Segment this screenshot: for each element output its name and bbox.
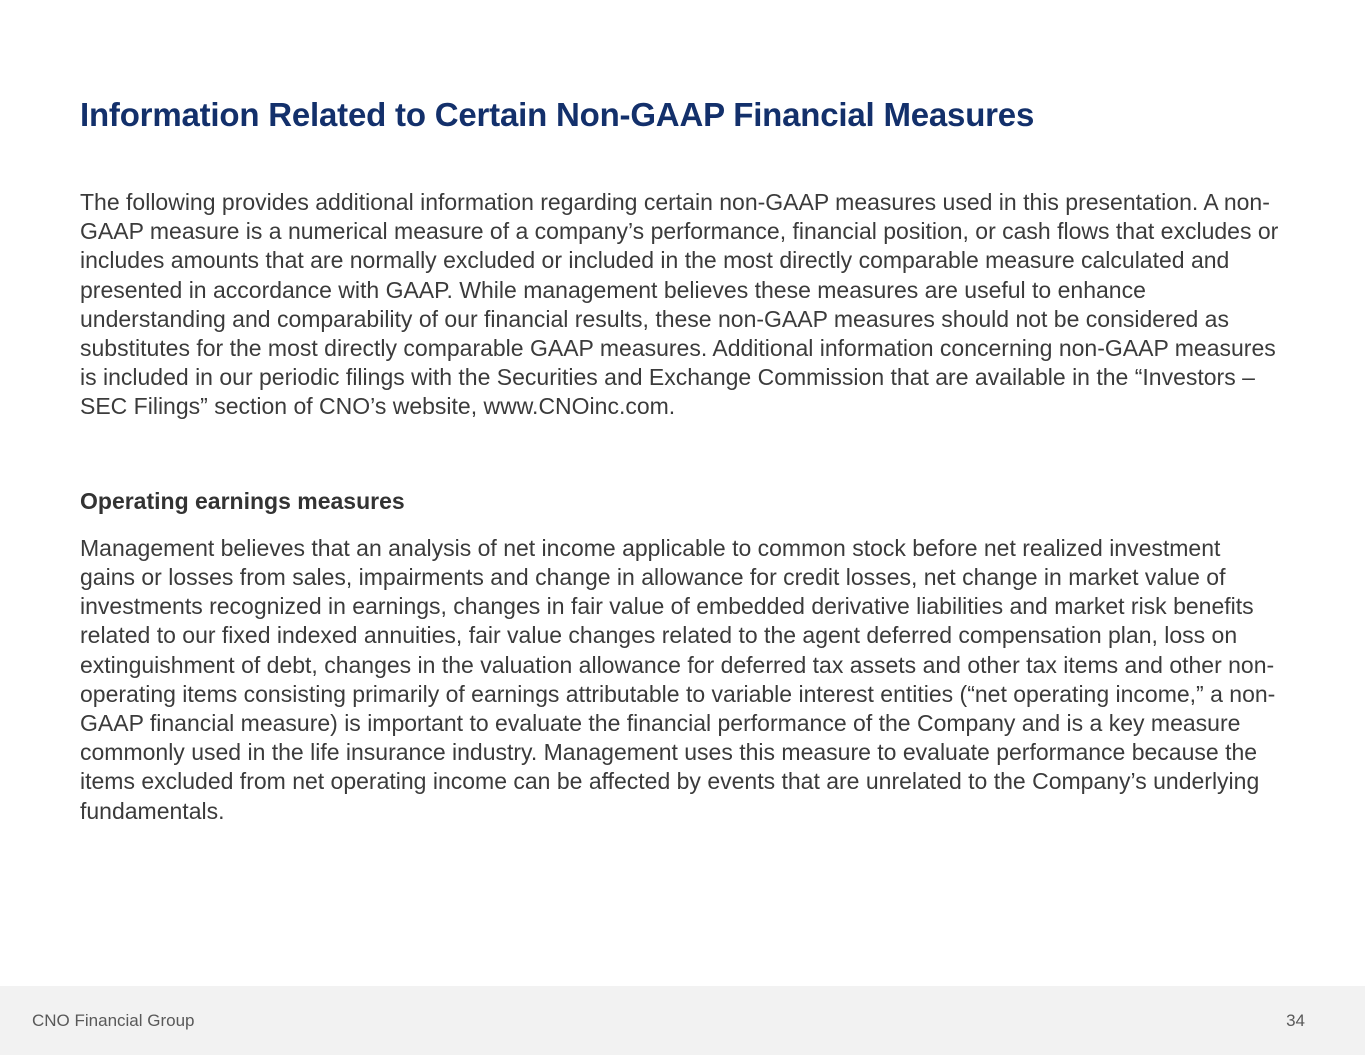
footer: CNO Financial Group 34 xyxy=(0,986,1365,1055)
intro-paragraph: The following provides additional inform… xyxy=(80,188,1285,422)
footer-brand-label: CNO Financial Group xyxy=(32,1012,195,1029)
page-title: Information Related to Certain Non-GAAP … xyxy=(80,96,1280,134)
operating-earnings-heading: Operating earnings measures xyxy=(80,487,1285,516)
operating-earnings-paragraph: Management believes that an analysis of … xyxy=(80,534,1280,826)
footer-page-number: 34 xyxy=(1286,1012,1333,1029)
slide-canvas: Information Related to Certain Non-GAAP … xyxy=(0,0,1365,1055)
slide-body: The following provides additional inform… xyxy=(80,188,1285,826)
